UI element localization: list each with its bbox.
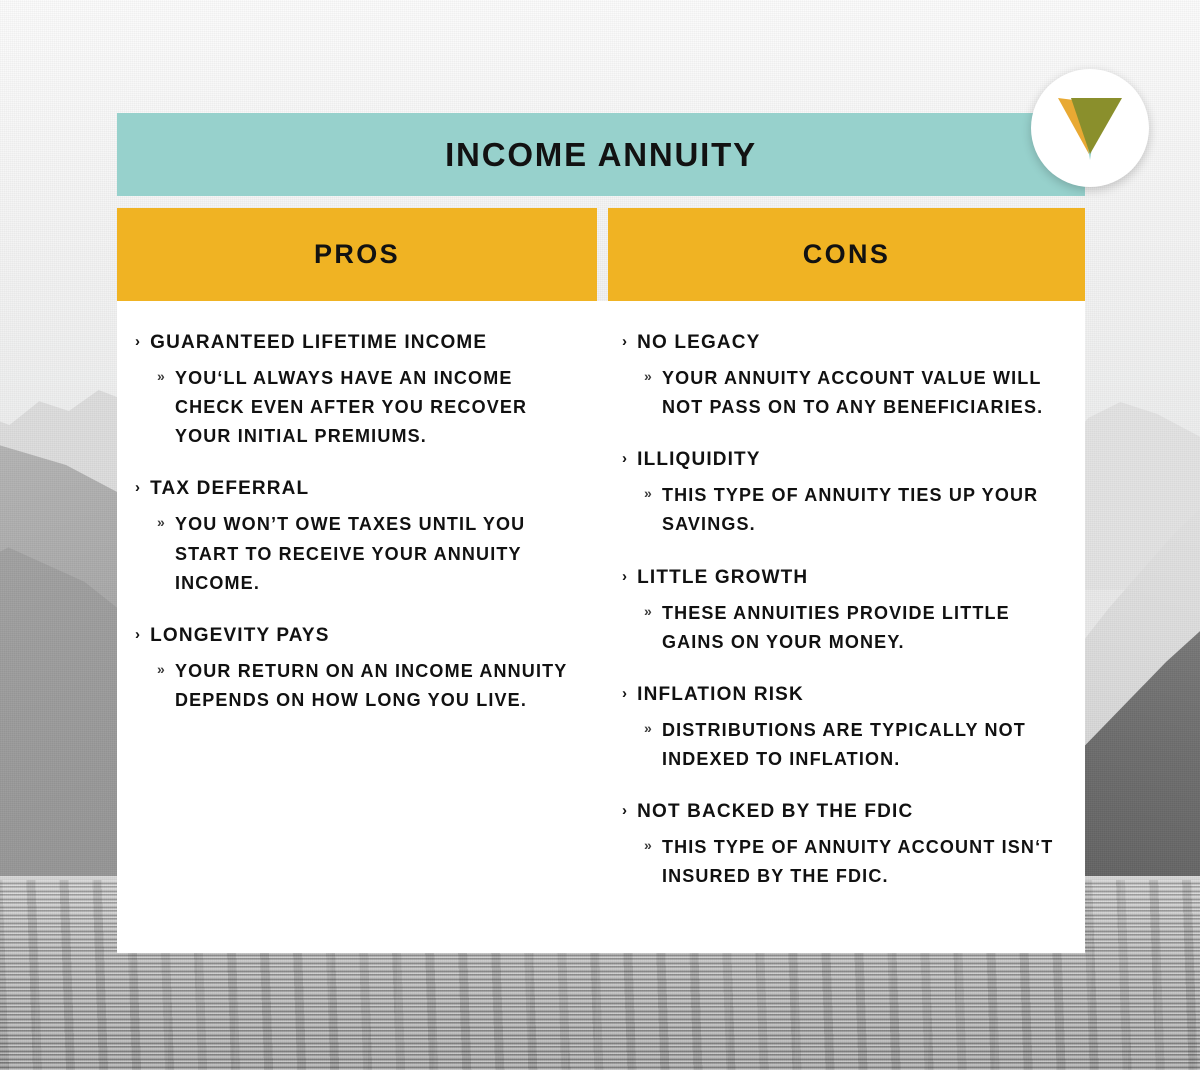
list-item: › ILLIQUIDITY » THIS TYPE OF ANNUITY TIE… [622,447,1067,539]
cons-detail: » THESE ANNUITIES PROVIDE LITTLE GAINS O… [644,599,1067,657]
chevron-bullet-icon: › [622,447,628,471]
card-title-bar: INCOME ANNUITY [117,113,1085,196]
cons-heading: › ILLIQUIDITY [622,447,1067,474]
column-header-pros: PROS [117,208,597,301]
cons-detail: » DISTRIBUTIONS ARE TYPICALLY NOT INDEXE… [644,716,1067,774]
list-item: › GUARANTEED LIFETIME INCOME » YOU‘LL AL… [135,330,579,451]
triangle-logo-icon [1054,94,1126,162]
list-item: › LITTLE GROWTH » THESE ANNUITIES PROVID… [622,565,1067,657]
chevron-bullet-icon: › [135,330,141,354]
double-chevron-bullet-icon: » [157,364,166,389]
cons-heading: › NOT BACKED BY THE FDIC [622,799,1067,826]
cons-list: › NO LEGACY » YOUR ANNUITY ACCOUNT VALUE… [608,301,1085,953]
chevron-bullet-icon: › [622,330,628,354]
cons-detail: » YOUR ANNUITY ACCOUNT VALUE WILL NOT PA… [644,364,1067,422]
list-item: › NO LEGACY » YOUR ANNUITY ACCOUNT VALUE… [622,330,1067,422]
column-header-cons-label: CONS [803,239,891,270]
column-header-cons: CONS [608,208,1085,301]
chevron-bullet-icon: › [135,623,141,647]
chevron-bullet-icon: › [135,476,141,500]
list-item: › LONGEVITY PAYS » YOUR RETURN ON AN INC… [135,623,579,715]
cons-detail: » THIS TYPE OF ANNUITY ACCOUNT ISN‘T INS… [644,833,1067,891]
pros-detail: » YOUR RETURN ON AN INCOME ANNUITY DEPEN… [157,657,579,715]
double-chevron-bullet-icon: » [644,481,653,506]
double-chevron-bullet-icon: » [157,510,166,535]
page-title: INCOME ANNUITY [445,136,757,174]
double-chevron-bullet-icon: » [644,833,653,858]
pros-detail: » YOU‘LL ALWAYS HAVE AN INCOME CHECK EVE… [157,364,579,451]
column-header-pros-label: PROS [314,239,400,270]
pros-list: › GUARANTEED LIFETIME INCOME » YOU‘LL AL… [117,301,597,953]
list-item: › NOT BACKED BY THE FDIC » THIS TYPE OF … [622,799,1067,891]
double-chevron-bullet-icon: » [157,657,166,682]
list-item: › INFLATION RISK » DISTRIBUTIONS ARE TYP… [622,682,1067,774]
logo-badge [1031,69,1149,187]
list-item: › TAX DEFERRAL » YOU WON’T OWE TAXES UNT… [135,476,579,597]
double-chevron-bullet-icon: » [644,716,653,741]
chevron-bullet-icon: › [622,682,628,706]
chevron-bullet-icon: › [622,565,628,589]
double-chevron-bullet-icon: » [644,599,653,624]
cons-heading: › NO LEGACY [622,330,1067,357]
pros-heading: › LONGEVITY PAYS [135,623,579,650]
pros-heading: › TAX DEFERRAL [135,476,579,503]
pros-cons-card: INCOME ANNUITY PROS CONS › GUARANTEED LI… [117,113,1085,953]
cons-heading: › LITTLE GROWTH [622,565,1067,592]
pros-detail: » YOU WON’T OWE TAXES UNTIL YOU START TO… [157,510,579,597]
pros-heading: › GUARANTEED LIFETIME INCOME [135,330,579,357]
chevron-bullet-icon: › [622,799,628,823]
double-chevron-bullet-icon: » [644,364,653,389]
cons-detail: » THIS TYPE OF ANNUITY TIES UP YOUR SAVI… [644,481,1067,539]
cons-heading: › INFLATION RISK [622,682,1067,709]
